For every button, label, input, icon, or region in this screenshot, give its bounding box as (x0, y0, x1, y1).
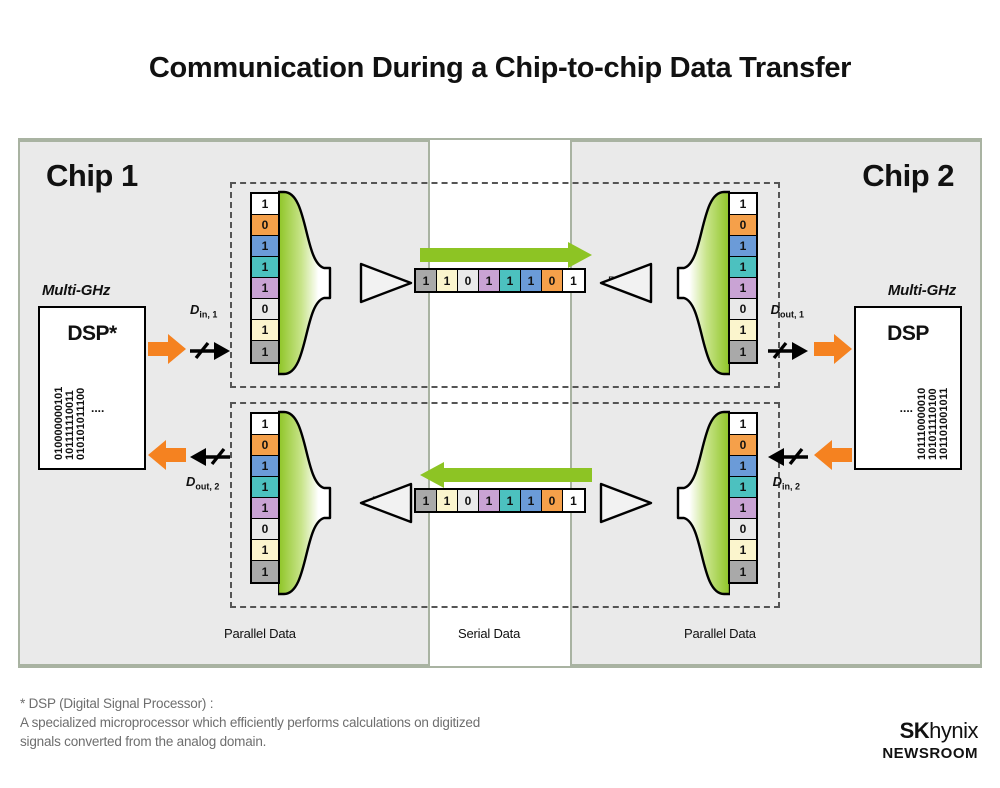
parallel-bit-cell: 1 (252, 194, 278, 215)
signal-base: D (773, 474, 782, 489)
parallel-bit-cell: 0 (730, 215, 756, 236)
bus-arrow-out1 (766, 336, 810, 367)
parallel-bit-cell: 1 (730, 477, 756, 498)
dsp-box-left: DSP* 010000000101 101111110011 010101011… (38, 306, 146, 470)
serial-bit-cell: 1 (479, 270, 500, 291)
parallel-bit-cell: 0 (730, 299, 756, 320)
dsp-binary-left: 010000000101 101111110011 010101011100 .… (54, 356, 108, 460)
parallel-bit-cell: 1 (730, 414, 756, 435)
orange-arrow-left-bottom (148, 440, 186, 475)
dsp-label-left: DSP* (40, 322, 144, 346)
orange-arrow-left-bottom-r (814, 440, 852, 475)
serial-bit-cell: 1 (437, 490, 458, 511)
logo-line-1: SKhynix (882, 718, 978, 744)
parallel-bit-cell: 1 (730, 498, 756, 519)
signal-label-din2: Din, 2 (773, 474, 800, 492)
serial-bit-cell: 0 (542, 270, 563, 291)
parallel-bit-cell: 1 (730, 278, 756, 299)
deserializer-funnel-bottom-left (278, 410, 342, 596)
serial-row-bottom: 11011101 (414, 488, 586, 513)
signal-base: D (190, 302, 199, 317)
serial-bit-cell: 1 (563, 490, 584, 511)
parallel-column-top-right: 10111011 (728, 192, 758, 364)
parallel-bit-cell: 1 (252, 257, 278, 278)
orange-arrow-right-top (148, 334, 186, 369)
serial-bit-cell: 0 (458, 270, 479, 291)
tx-amplifier-top (358, 260, 414, 306)
multighz-label-left: Multi-GHz (42, 282, 110, 299)
serial-bit-cell: 1 (437, 270, 458, 291)
parallel-bit-cell: 1 (252, 236, 278, 257)
page-title: Communication During a Chip-to-chip Data… (0, 52, 1000, 85)
signal-sub: in, 1 (199, 310, 217, 320)
logo-hynix: hynix (929, 718, 978, 743)
bus-arrow-in1 (188, 336, 232, 367)
parallel-bit-cell: 0 (252, 299, 278, 320)
logo-newsroom: NEWSROOM (882, 745, 978, 762)
parallel-bit-cell: 1 (730, 341, 756, 362)
dsp-label-right: DSP (856, 322, 960, 346)
dsp-binary-ellipsis: .... (91, 401, 104, 415)
serial-bit-cell: 1 (521, 490, 542, 511)
parallel-bit-cell: 1 (252, 320, 278, 341)
serial-bit-cell: 1 (521, 270, 542, 291)
dsp-binary-line: 010101011100 (76, 356, 87, 460)
parallel-column-bottom-right: 10111011 (728, 412, 758, 584)
parallel-bit-cell: 0 (252, 215, 278, 236)
parallel-bit-cell: 1 (730, 456, 756, 477)
dsp-box-right: DSP .... 101110000010 101011110100 10110… (854, 306, 962, 470)
parallel-bit-cell: 0 (252, 435, 278, 456)
chip1-title: Chip 1 (46, 158, 138, 194)
deserializer-funnel-top-right (666, 190, 730, 376)
signal-base: D (771, 302, 780, 317)
serial-row-top: 11011101 (414, 268, 586, 293)
rx-amplifier-top (598, 260, 654, 306)
serial-bit-cell: 0 (542, 490, 563, 511)
parallel-bit-cell: 0 (252, 519, 278, 540)
footnote-text: * DSP (Digital Signal Processor) : A spe… (20, 694, 720, 751)
parallel-bit-cell: 1 (252, 341, 278, 362)
dsp-binary-ellipsis: .... (900, 401, 913, 415)
signal-label-din1: Din, 1 (190, 302, 217, 320)
parallel-bit-cell: 1 (730, 320, 756, 341)
sk-hynix-newsroom-logo: SKhynix NEWSROOM (882, 718, 978, 762)
serial-bit-cell: 1 (479, 490, 500, 511)
parallel-bit-cell: 1 (730, 194, 756, 215)
parallel-bit-cell: 1 (252, 414, 278, 435)
serial-bit-cell: 1 (500, 270, 521, 291)
dsp-binary-right: .... 101110000010 101011110100 101101001… (896, 356, 950, 460)
serial-bit-cell: 1 (416, 270, 437, 291)
parallel-column-top-left: 10111011 (250, 192, 280, 364)
parallel-column-bottom-left: 10111011 (250, 412, 280, 584)
label-parallel-data-right: Parallel Data (684, 626, 756, 641)
multighz-label-right: Multi-GHz (888, 282, 956, 299)
parallel-bit-cell: 1 (252, 278, 278, 299)
orange-arrow-right-top-r (814, 334, 852, 369)
parallel-bit-cell: 1 (730, 540, 756, 561)
signal-label-dout2: Dout, 2 (186, 474, 219, 492)
serial-bit-cell: 1 (416, 490, 437, 511)
dsp-binary-line: 101101001011 (939, 356, 950, 460)
bus-arrow-out2 (188, 442, 232, 473)
logo-sk: SK (900, 718, 930, 743)
parallel-bit-cell: 1 (252, 477, 278, 498)
serial-bit-cell: 1 (563, 270, 584, 291)
chip2-title: Chip 2 (862, 158, 954, 194)
serializer-funnel-bottom-right (666, 410, 730, 596)
label-parallel-data-left: Parallel Data (224, 626, 296, 641)
parallel-bit-cell: 1 (252, 561, 278, 582)
signal-base: D (186, 474, 195, 489)
diagram-frame: Chip 1 Chip 2 Multi-GHz DSP* 01000000010… (18, 138, 982, 668)
bus-arrow-in2 (766, 442, 810, 473)
signal-sub: out, 2 (195, 482, 219, 492)
tx-amplifier-bottom (598, 480, 654, 526)
parallel-bit-cell: 1 (730, 257, 756, 278)
signal-label-dout1: Dout, 1 (771, 302, 804, 320)
parallel-bit-cell: 0 (730, 519, 756, 540)
signal-sub: in, 2 (782, 482, 800, 492)
parallel-bit-cell: 1 (252, 498, 278, 519)
serial-bit-cell: 0 (458, 490, 479, 511)
parallel-bit-cell: 0 (730, 435, 756, 456)
rx-amplifier-bottom (358, 480, 414, 526)
signal-sub: out, 1 (780, 310, 804, 320)
parallel-bit-cell: 1 (252, 540, 278, 561)
parallel-bit-cell: 1 (252, 456, 278, 477)
parallel-bit-cell: 1 (730, 236, 756, 257)
serial-bit-cell: 1 (500, 490, 521, 511)
parallel-bit-cell: 1 (730, 561, 756, 582)
serializer-funnel-top-left (278, 190, 342, 376)
label-serial-data: Serial Data (458, 626, 520, 641)
